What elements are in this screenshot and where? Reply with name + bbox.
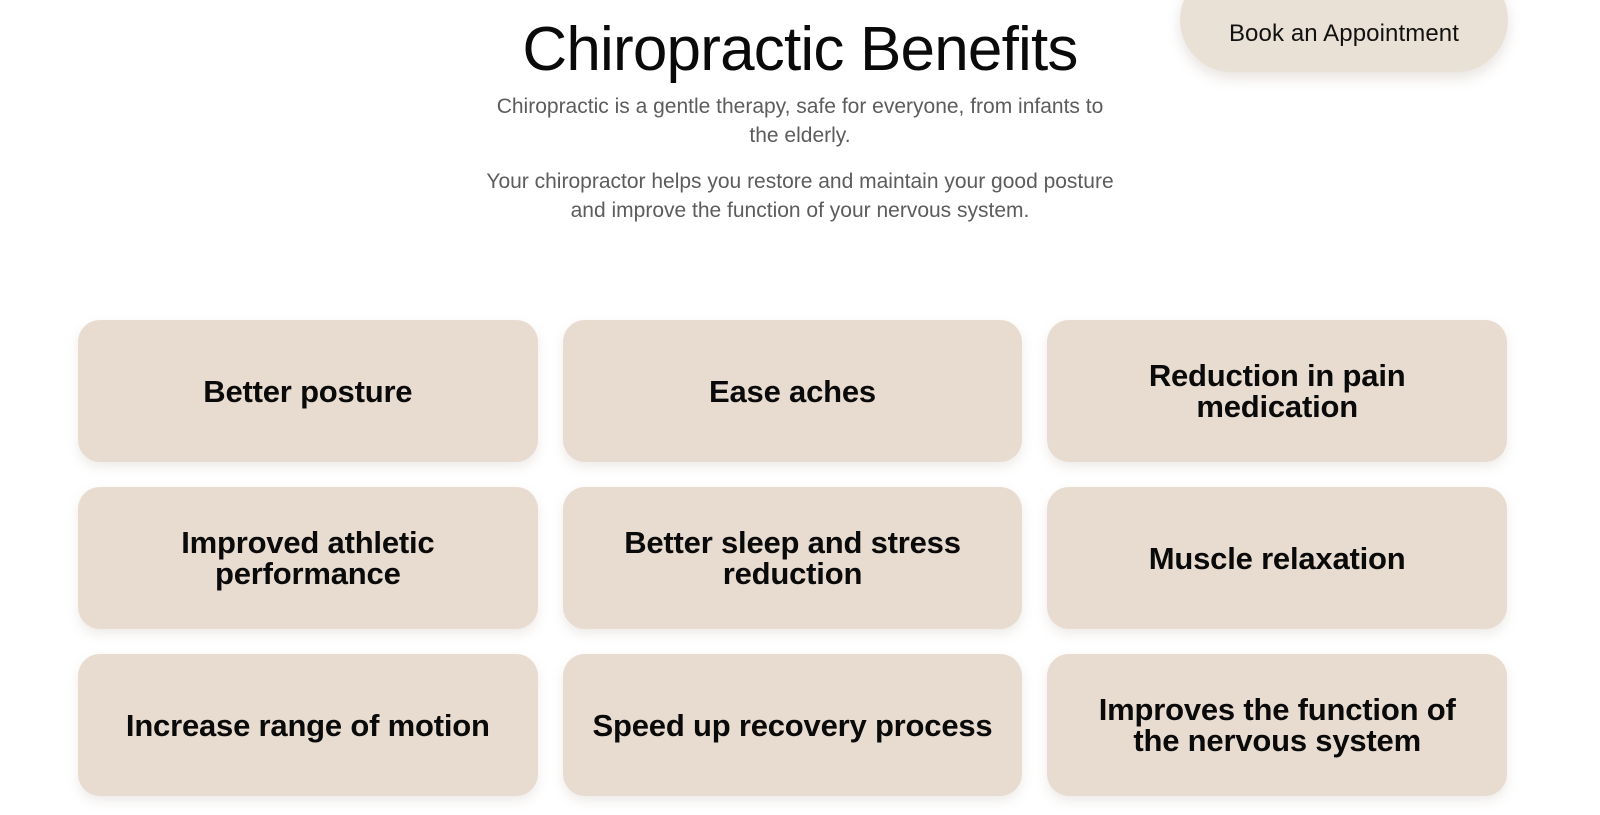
benefit-card[interactable]: Ease aches xyxy=(563,320,1023,462)
book-appointment-label: Book an Appointment xyxy=(1229,20,1459,48)
intro-paragraph-1: Chiropractic is a gentle therapy, safe f… xyxy=(480,92,1120,150)
benefit-card-label: Ease aches xyxy=(709,376,876,407)
benefit-card[interactable]: Increase range of motion xyxy=(78,654,538,796)
book-appointment-button[interactable]: Book an Appointment xyxy=(1180,0,1508,72)
benefit-card[interactable]: Muscle relaxation xyxy=(1047,487,1507,629)
benefit-card-label: Improves the function of the nervous sys… xyxy=(1073,694,1481,756)
benefit-card-label: Better sleep and stress reduction xyxy=(589,527,997,589)
benefit-card[interactable]: Reduction in pain medication xyxy=(1047,320,1507,462)
benefit-card-label: Speed up recovery process xyxy=(593,710,993,741)
benefit-card-label: Reduction in pain medication xyxy=(1073,360,1481,422)
intro-paragraph-2: Your chiropractor helps you restore and … xyxy=(470,167,1130,225)
benefit-card-label: Improved athletic performance xyxy=(104,527,512,589)
benefit-card[interactable]: Better sleep and stress reduction xyxy=(563,487,1023,629)
benefit-card-label: Muscle relaxation xyxy=(1149,543,1406,574)
benefit-card-label: Better posture xyxy=(203,376,412,407)
benefit-card[interactable]: Speed up recovery process xyxy=(563,654,1023,796)
benefits-grid: Better posture Ease aches Reduction in p… xyxy=(78,320,1507,796)
benefit-card[interactable]: Better posture xyxy=(78,320,538,462)
intro-text-block: Chiropractic is a gentle therapy, safe f… xyxy=(480,92,1120,225)
benefit-card-label: Increase range of motion xyxy=(126,710,490,741)
benefit-card[interactable]: Improved athletic performance xyxy=(78,487,538,629)
benefit-card[interactable]: Improves the function of the nervous sys… xyxy=(1047,654,1507,796)
